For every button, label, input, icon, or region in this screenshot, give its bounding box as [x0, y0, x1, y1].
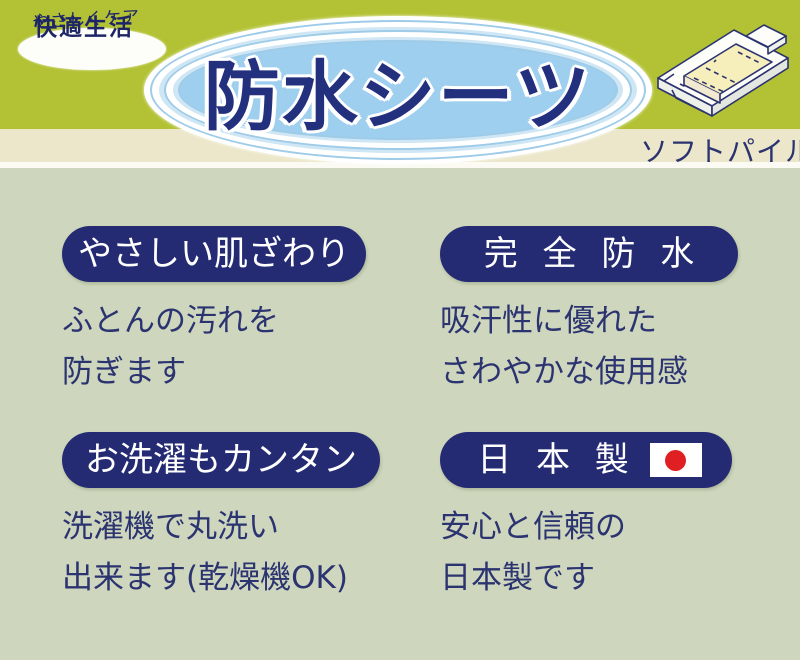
feature-easy-wash: お洗濯もカンタン 洗濯機で丸洗い 出来ます(乾燥機OK): [62, 432, 402, 603]
feature-description: 吸汗性に優れた さわやかな使用感: [440, 296, 780, 397]
feature-description-line: 日本製です: [440, 553, 780, 604]
feature-description-line: ふとんの汚れを: [62, 296, 402, 347]
feature-pill-label: やさしい肌ざわり: [78, 237, 350, 271]
feature-description-line: 出来ます(乾燥機OK): [62, 553, 402, 604]
feature-pill-gentle-touch: やさしい肌ざわり: [62, 226, 366, 282]
bed-with-sheet-icon: [650, 2, 796, 124]
feature-fully-waterproof: 完 全 防 水 吸汗性に優れた さわやかな使用感: [440, 226, 780, 397]
product-caption: ソフトパイル: [640, 130, 800, 170]
product-banner: やさしくケア 快適生活 防水シーツ: [0, 0, 800, 660]
feature-pill-fully-waterproof: 完 全 防 水: [440, 226, 738, 282]
feature-description-line: 防ぎます: [62, 347, 402, 398]
page-title: 防水シーツ: [144, 16, 652, 164]
feature-description: 安心と信頼の 日本製です: [440, 502, 780, 603]
feature-gentle-touch: やさしい肌ざわり ふとんの汚れを 防ぎます: [62, 226, 402, 397]
brand-name: 快適生活: [10, 4, 158, 46]
feature-description-line: さわやかな使用感: [440, 347, 780, 398]
feature-pill-label: 日 本 製: [470, 443, 636, 477]
feature-pill-label: 完 全 防 水: [477, 237, 701, 271]
feature-made-in-japan: 日 本 製 安心と信頼の 日本製です: [440, 432, 780, 603]
feature-pill-made-in-japan: 日 本 製: [440, 432, 732, 488]
japan-flag-icon: [650, 443, 702, 477]
feature-pill-label: お洗濯もカンタン: [85, 443, 357, 477]
feature-description-line: 吸汗性に優れた: [440, 296, 780, 347]
feature-description: 洗濯機で丸洗い 出来ます(乾燥機OK): [62, 502, 402, 603]
japan-flag-sun: [665, 450, 686, 471]
title-banner: 防水シーツ: [144, 16, 652, 164]
feature-description-line: 洗濯機で丸洗い: [62, 502, 402, 553]
feature-description-line: 安心と信頼の: [440, 502, 780, 553]
feature-description: ふとんの汚れを 防ぎます: [62, 296, 402, 397]
feature-pill-easy-wash: お洗濯もカンタン: [62, 432, 380, 488]
